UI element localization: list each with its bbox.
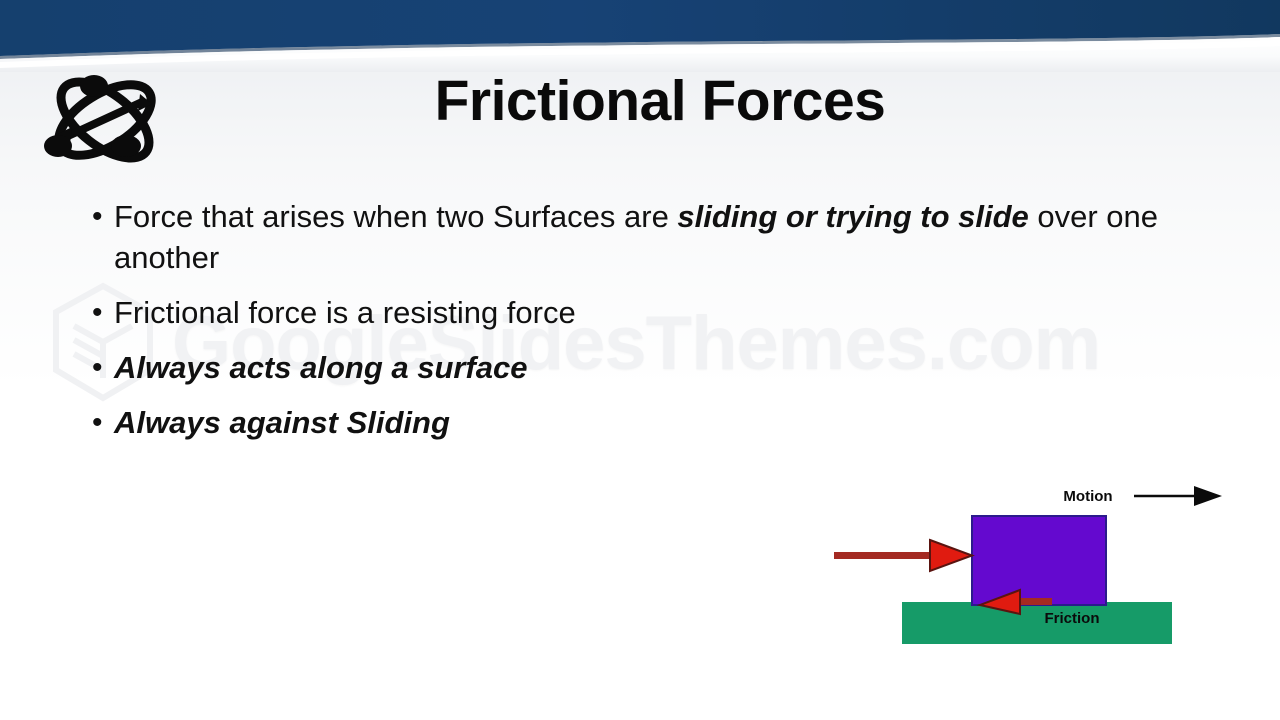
- bullet-marker-icon: •: [92, 347, 114, 388]
- list-item: • Always acts along a surface: [92, 347, 1182, 388]
- bullet-text-4: Always against Sliding: [114, 402, 1182, 443]
- slide-canvas: Frictional Forces GoogleSlidesThemes.com…: [0, 0, 1280, 720]
- bullet-segment: Force that arises when two Surfaces are: [114, 199, 677, 234]
- list-item: • Always against Sliding: [92, 402, 1182, 443]
- bullet-marker-icon: •: [92, 402, 114, 443]
- header-banner: [0, 0, 1280, 72]
- ground-surface: [902, 602, 1172, 644]
- bullet-segment: Frictional force is a resisting force: [114, 295, 576, 330]
- bullet-list: • Force that arises when two Surfaces ar…: [92, 196, 1182, 457]
- bullet-text-3: Always acts along a surface: [114, 347, 1182, 388]
- bullet-marker-icon: •: [92, 196, 114, 237]
- list-item: • Force that arises when two Surfaces ar…: [92, 196, 1182, 278]
- friction-block-diagram: Motion Friction: [820, 478, 1240, 663]
- bullet-segment-emphasis: Always acts along a surface: [114, 350, 528, 385]
- sliding-block: [972, 516, 1106, 605]
- bullet-text-2: Frictional force is a resisting force: [114, 292, 1182, 333]
- bullet-segment-emphasis: Always against Sliding: [114, 405, 450, 440]
- bullet-marker-icon: •: [92, 292, 114, 333]
- bullet-segment-emphasis: sliding or trying to slide: [677, 199, 1028, 234]
- page-title: Frictional Forces: [200, 72, 1120, 132]
- atom-icon: [34, 64, 176, 176]
- bullet-text-1: Force that arises when two Surfaces are …: [114, 196, 1182, 278]
- motion-arrow: [1134, 486, 1222, 506]
- motion-label-text: Motion: [1063, 488, 1112, 505]
- applied-force-arrow: [834, 540, 972, 571]
- friction-label-text: Friction: [1045, 610, 1100, 627]
- list-item: • Frictional force is a resisting force: [92, 292, 1182, 333]
